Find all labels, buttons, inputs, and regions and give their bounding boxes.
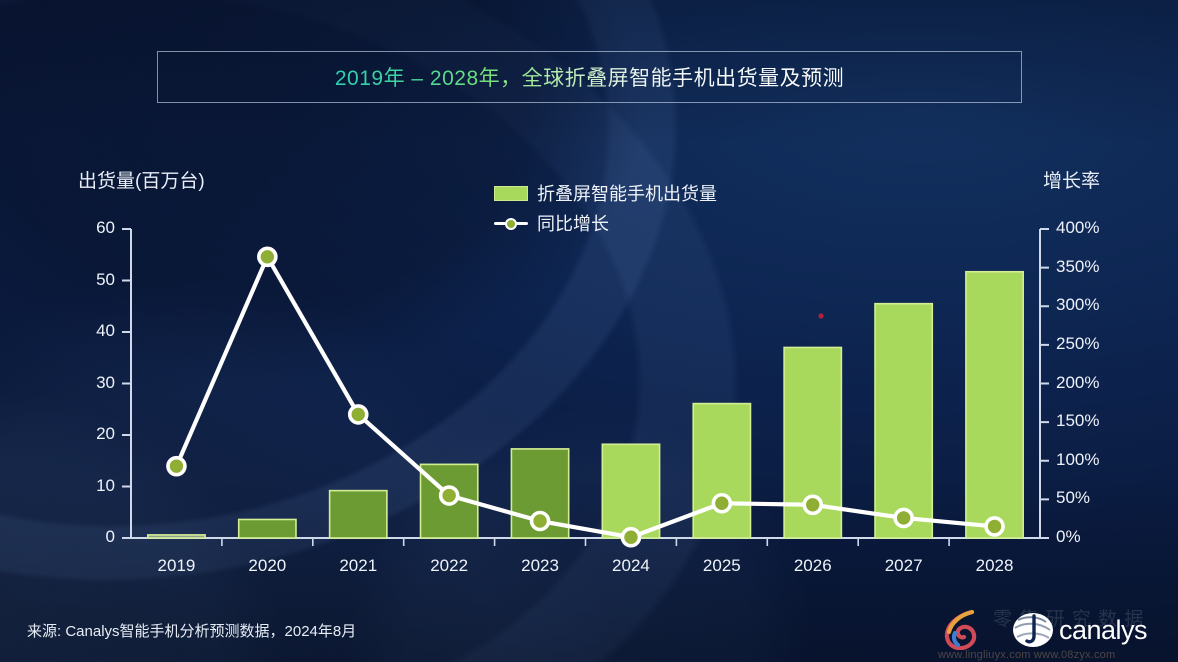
line-marker-2020[interactable] — [259, 248, 276, 265]
x-axis-tick-label[interactable]: 2020 — [222, 556, 313, 576]
chart-screenshot: 2019年 – 2028年，全球折叠屏智能手机出货量及预测 出货量(百万台) 增… — [0, 0, 1178, 662]
line-marker-2024[interactable] — [622, 529, 639, 546]
line-marker-2022[interactable] — [441, 487, 458, 504]
y-axis-right-tick-label: 200% — [1056, 373, 1099, 393]
bar-2027[interactable] — [875, 304, 932, 538]
bar-2024[interactable] — [602, 444, 659, 538]
line-marker-2026[interactable] — [804, 496, 821, 513]
bar-2021[interactable] — [330, 491, 387, 538]
line-marker-2027[interactable] — [895, 509, 912, 526]
bar-2028[interactable] — [966, 272, 1023, 538]
y-axis-left-tick-label: 30 — [96, 373, 115, 393]
bar-2020[interactable] — [239, 519, 296, 538]
y-axis-left-tick-label: 40 — [96, 321, 115, 341]
canalys-logo: canalys — [1012, 610, 1147, 650]
x-axis-tick-label[interactable]: 2019 — [131, 556, 222, 576]
canalys-wordmark: canalys — [1059, 615, 1147, 646]
y-axis-right-tick-label: 0% — [1056, 527, 1081, 547]
bar-2019[interactable] — [148, 535, 205, 538]
x-axis-tick-label[interactable]: 2024 — [586, 556, 677, 576]
y-axis-left-tick-label: 60 — [96, 218, 115, 238]
y-axis-left-tick-label: 0 — [106, 527, 115, 547]
x-axis-tick-label[interactable]: 2025 — [676, 556, 767, 576]
y-axis-right-tick-label: 400% — [1056, 218, 1099, 238]
red-dot-marker — [818, 313, 823, 318]
y-axis-left-tick-label: 20 — [96, 424, 115, 444]
line-marker-2025[interactable] — [713, 495, 730, 512]
source-note: 来源: Canalys智能手机分析预测数据，2024年8月 — [27, 620, 356, 641]
y-axis-left-tick-label: 50 — [96, 270, 115, 290]
y-axis-left-tick-label: 10 — [96, 476, 115, 496]
plot-area: 01020304050600%50%100%150%200%250%300%35… — [0, 0, 1178, 662]
x-axis-tick-label[interactable]: 2021 — [313, 556, 404, 576]
line-marker-2028[interactable] — [986, 518, 1003, 535]
line-marker-2023[interactable] — [532, 513, 549, 530]
x-axis-tick-label[interactable]: 2022 — [404, 556, 495, 576]
bar-2025[interactable] — [693, 404, 750, 538]
y-axis-right-tick-label: 300% — [1056, 295, 1099, 315]
y-axis-right-tick-label: 350% — [1056, 257, 1099, 277]
x-axis-tick-label[interactable]: 2028 — [949, 556, 1040, 576]
line-marker-2021[interactable] — [350, 406, 367, 423]
growth-line[interactable] — [176, 257, 994, 537]
x-axis-tick-label[interactable]: 2027 — [858, 556, 949, 576]
y-axis-right-tick-label: 150% — [1056, 411, 1099, 431]
watermark-urls: www.lingliuyx.com www.08zyx.com — [938, 649, 1178, 661]
y-axis-right-tick-label: 100% — [1056, 450, 1099, 470]
x-axis-tick-label[interactable]: 2023 — [495, 556, 586, 576]
canalys-mark-icon — [1012, 610, 1054, 650]
branding-watermark: 零 售 研 究 数 据 canalys www.lingliuyx.com ww… — [938, 596, 1178, 662]
y-axis-right-tick-label: 50% — [1056, 488, 1090, 508]
line-marker-2019[interactable] — [168, 458, 185, 475]
y-axis-right-tick-label: 250% — [1056, 334, 1099, 354]
flame-icon — [942, 610, 988, 650]
x-axis-tick-label[interactable]: 2026 — [767, 556, 858, 576]
